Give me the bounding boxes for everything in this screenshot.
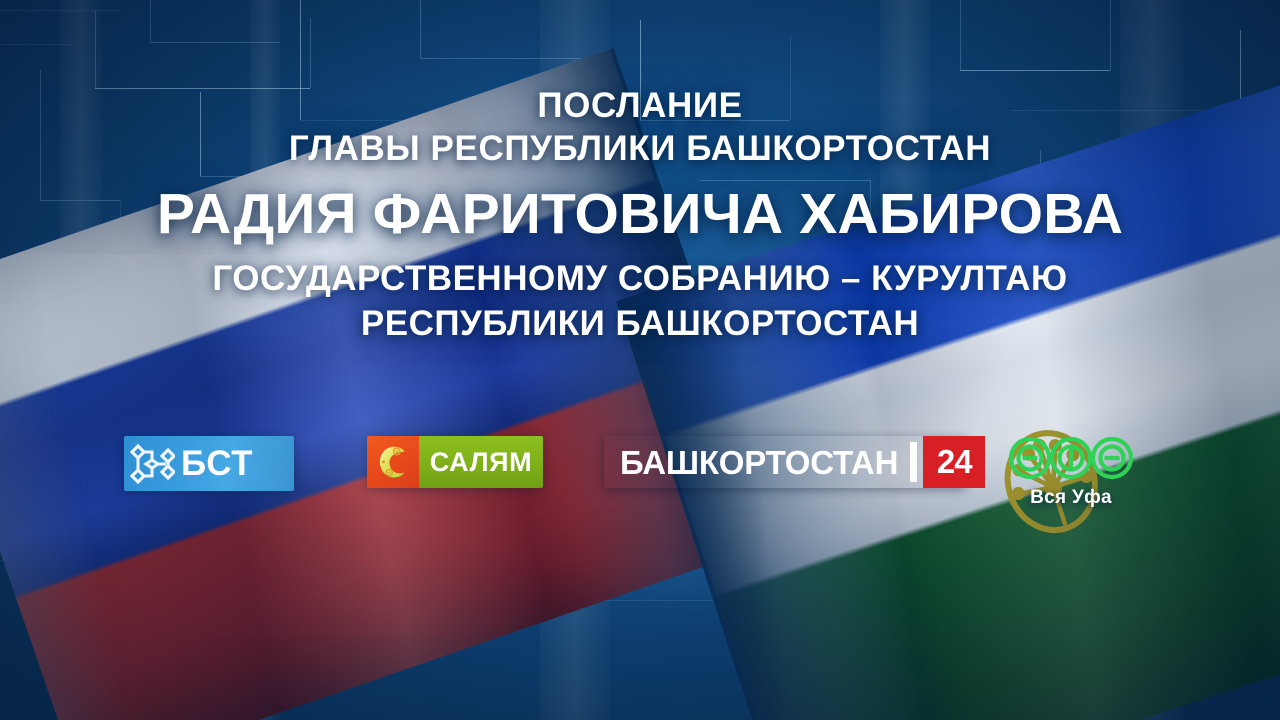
channel-number-text: 24 xyxy=(937,443,972,481)
logo-bashkortostan-24-label: БАШКОРТОСТАН xyxy=(620,446,898,479)
title-line-2: ГЛАВЫ РЕСПУБЛИКИ БАШКОРТОСТАН xyxy=(0,127,1280,170)
bashkir-ornament-icon xyxy=(129,442,175,486)
logo-bst-label: БСТ xyxy=(181,446,253,481)
logo-vsya-ufa-label: Вся Уфа xyxy=(1008,487,1134,509)
broadcast-title-card: ПОСЛАНИЕ ГЛАВЫ РЕСПУБЛИКИ БАШКОРТОСТАН Р… xyxy=(0,0,1280,720)
logo-salyam-label: САЛЯМ xyxy=(430,447,533,478)
title-line-5: РЕСПУБЛИКИ БАШКОРТОСТАН xyxy=(0,302,1280,347)
ufa-monogram-icon xyxy=(1008,436,1134,480)
channel-number-badge: 24 xyxy=(923,436,985,488)
title-block: ПОСЛАНИЕ ГЛАВЫ РЕСПУБЛИКИ БАШКОРТОСТАН Р… xyxy=(0,84,1280,347)
logo-divider-bar xyxy=(910,442,917,482)
title-line-1: ПОСЛАНИЕ xyxy=(0,84,1280,127)
broadcaster-logo-bar: БСТ xyxy=(0,436,1280,532)
title-line-4: ГОСУДАРСТВЕННОМУ СОБРАНИЮ – КУРУЛТАЮ xyxy=(0,257,1280,302)
logo-vsya-ufa[interactable]: Вся Уфа xyxy=(1008,436,1134,516)
salyam-s-mark-icon xyxy=(367,436,419,488)
page-title-name: РАДИЯ ФАРИТОВИЧА ХАБИРОВА xyxy=(0,180,1280,250)
logo-bashkortostan-24[interactable]: БАШКОРТОСТАН 24 xyxy=(604,436,966,488)
logo-bst[interactable]: БСТ xyxy=(124,436,294,491)
logo-salyam[interactable]: САЛЯМ xyxy=(367,436,543,488)
logo-salyam-plate: САЛЯМ xyxy=(419,436,543,488)
